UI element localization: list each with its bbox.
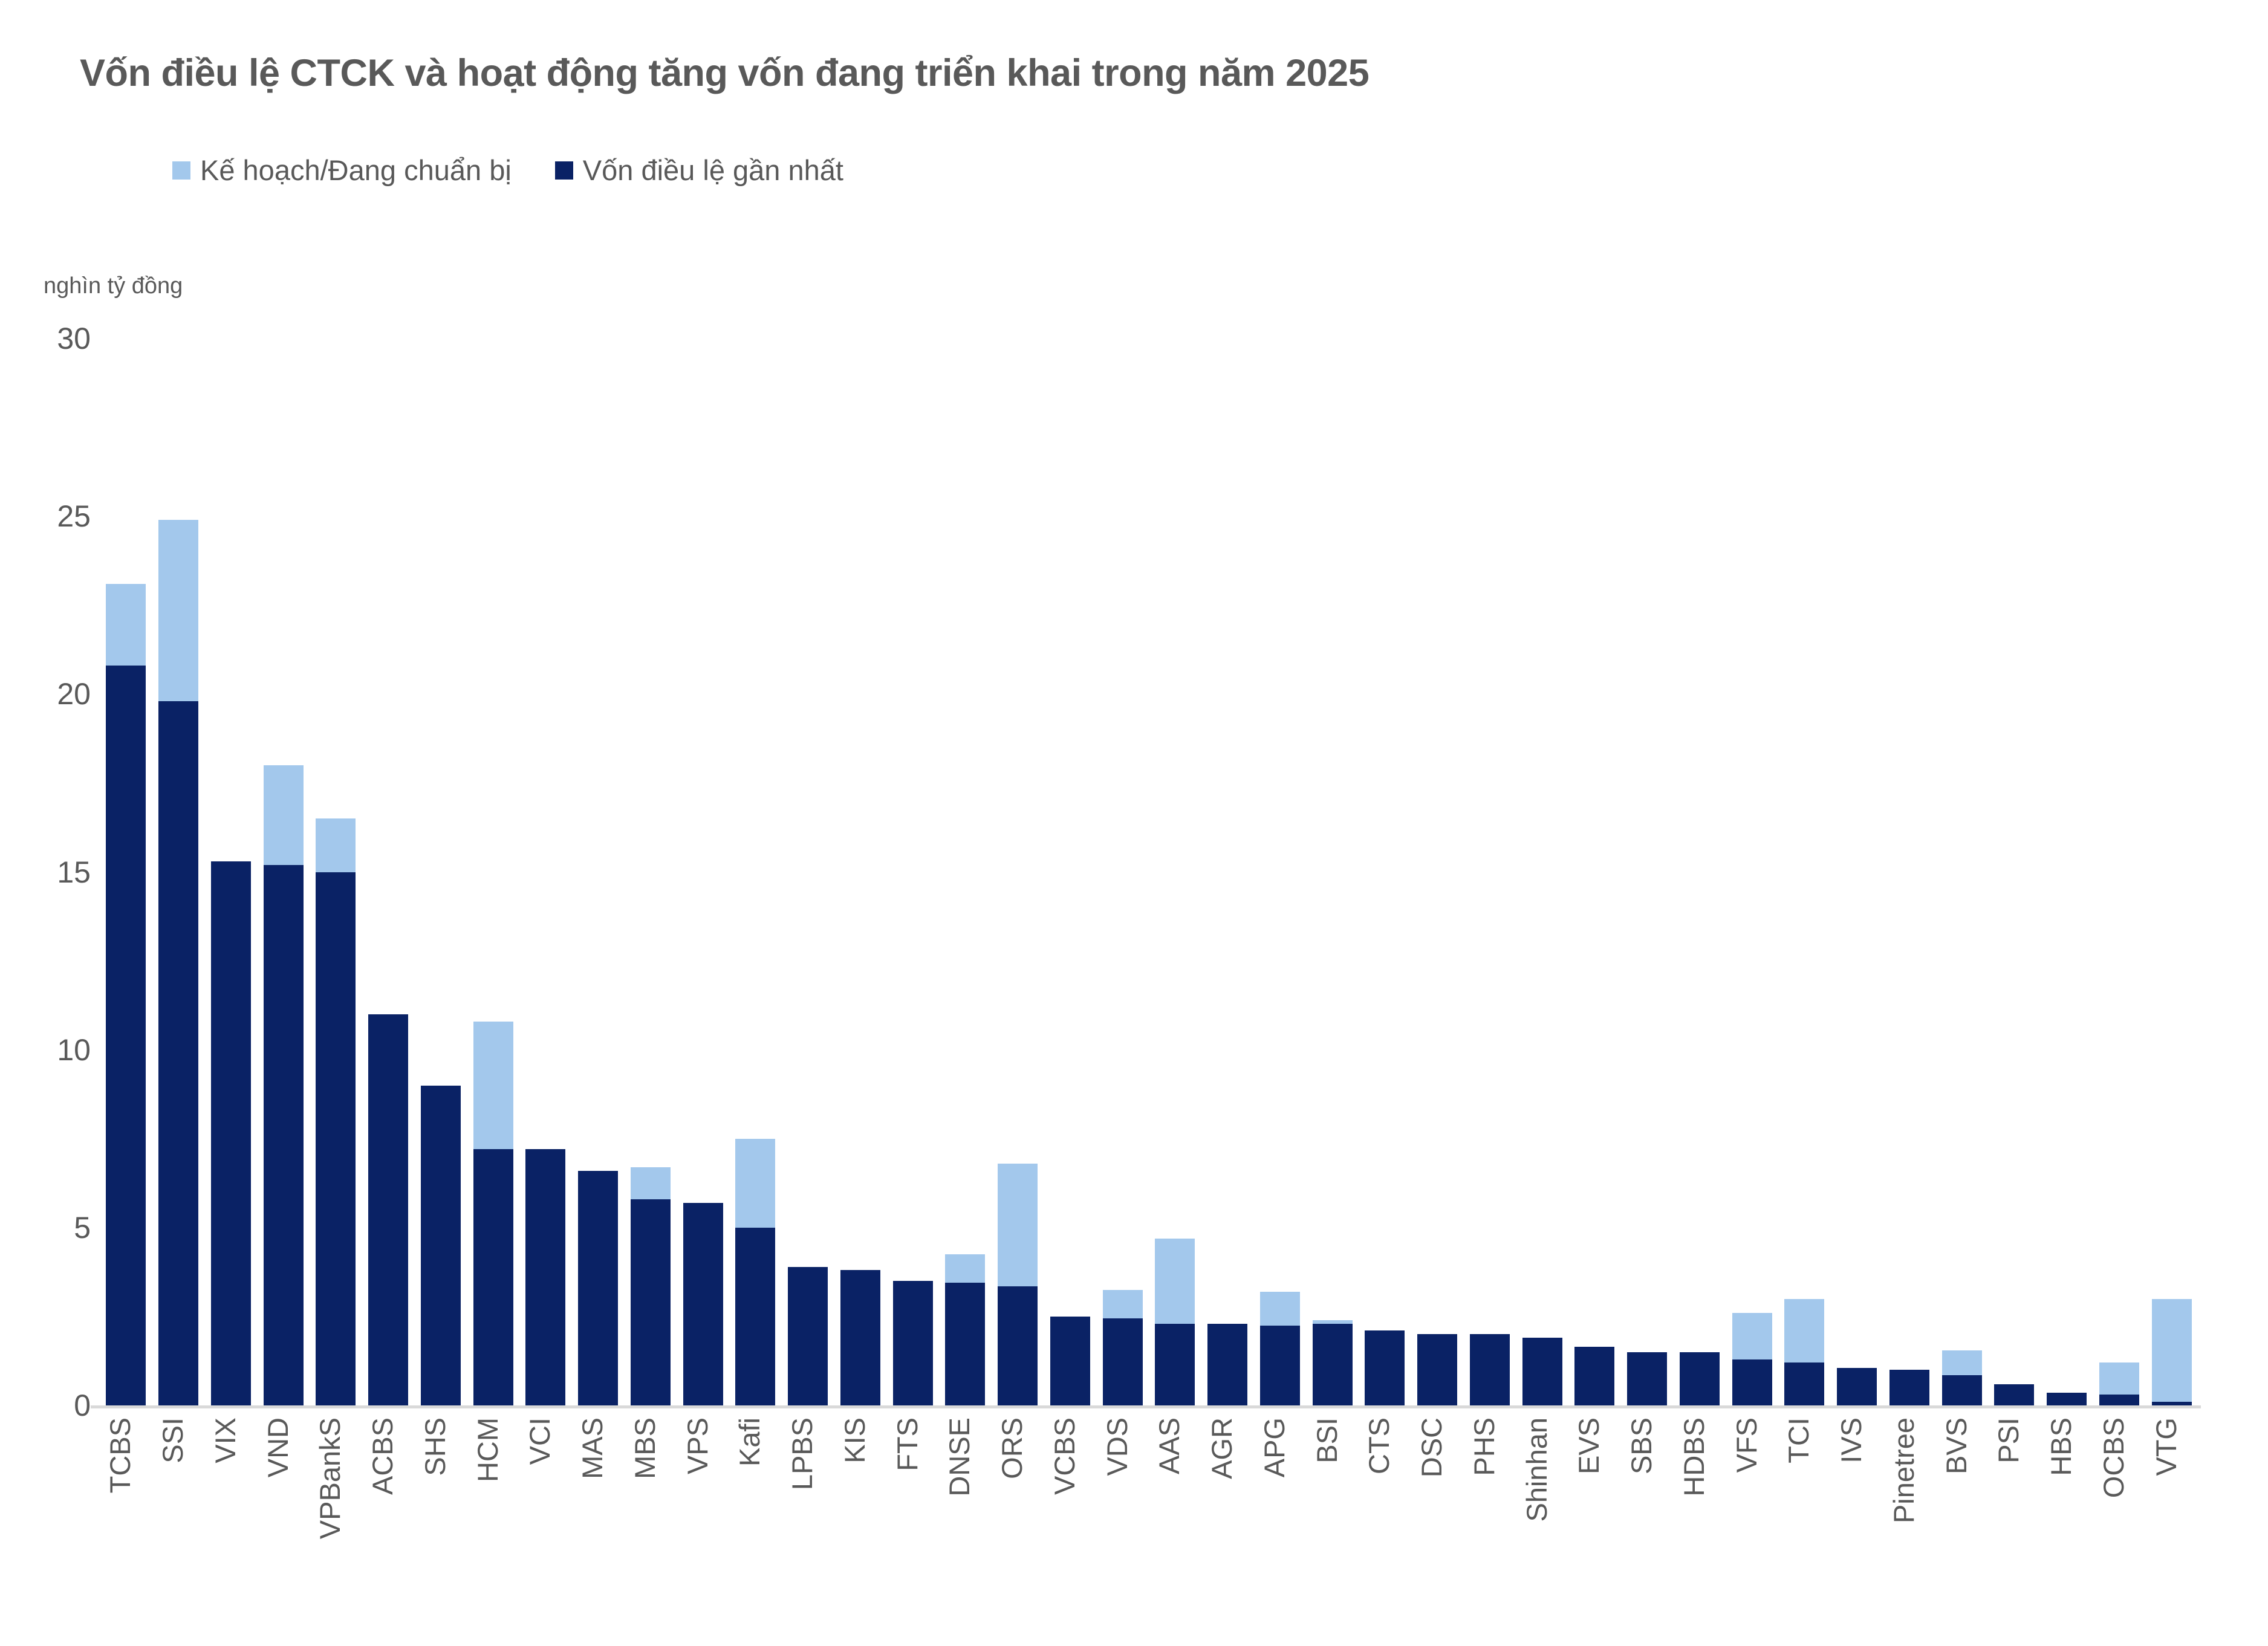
bar-column[interactable] [1837,1368,1877,1405]
bar-column[interactable] [1207,1324,1247,1405]
bar-segment-capital [893,1281,933,1405]
bar-segment-capital [1050,1317,1090,1405]
bar-column[interactable] [1627,1352,1667,1405]
x-axis-tick-label: AAS [1155,1418,1195,1474]
bar-column[interactable] [1313,1320,1353,1405]
bar-column[interactable] [788,1267,828,1405]
bar-segment-capital [1470,1334,1510,1405]
bar-segment-plan [735,1139,775,1228]
x-axis-tick-label: DNSE [945,1418,985,1497]
y-axis-tick: 25 [57,501,91,531]
x-axis-tick-label: EVS [1574,1418,1614,1474]
x-axis-tick-label: OCBS [2099,1418,2139,1498]
bar-column[interactable] [840,1270,880,1405]
bar-segment-plan [1103,1290,1143,1318]
bar-column[interactable] [1889,1370,1929,1405]
bar-column[interactable] [1942,1350,1982,1405]
bar-segment-capital [1103,1318,1143,1405]
bar-segment-capital [998,1286,1038,1405]
x-axis-tick-label: ORS [998,1418,1038,1479]
bar-column[interactable] [1680,1352,1720,1405]
bar-segment-plan [1155,1239,1195,1324]
bar-segment-capital [1732,1359,1772,1405]
bar-segment-capital [2152,1402,2192,1405]
x-axis-baseline [91,1405,2201,1408]
bar-column[interactable] [316,818,356,1405]
bar-segment-plan [1784,1299,1824,1363]
x-axis-tick-label: MAS [578,1418,618,1479]
x-axis-tick-label: APG [1260,1418,1300,1477]
chart-page: Vốn điều lệ CTCK và hoạt động tăng vốn đ… [0,0,2268,1646]
bar-column[interactable] [683,1203,723,1405]
x-axis-tick-label: SSI [158,1418,198,1463]
bar-segment-capital [1313,1324,1353,1405]
bar-segment-capital [421,1086,461,1406]
bar-segment-plan [2099,1362,2139,1395]
bar-segment-capital [158,701,198,1405]
bar-segment-capital [1889,1370,1929,1405]
bar-column[interactable] [211,861,251,1405]
bar-column[interactable] [2099,1362,2139,1405]
x-axis-tick-label: VPBankS [316,1418,356,1539]
y-axis-tick: 0 [74,1390,91,1421]
bar-segment-capital [1522,1338,1562,1405]
x-axis-tick-label: AGR [1207,1418,1247,1479]
x-axis-tick-label: SHS [421,1418,461,1476]
bar-segment-plan [1260,1292,1300,1326]
bar-segment-capital [1207,1324,1247,1405]
bar-column[interactable] [368,1014,408,1405]
y-axis-tick: 20 [57,679,91,709]
y-axis-tick: 15 [57,857,91,887]
bar-column[interactable] [1784,1299,1824,1405]
x-axis-tick-label: LPBS [788,1418,828,1490]
x-axis-tick-label: HDBS [1680,1418,1720,1497]
bar-segment-capital [840,1270,880,1405]
x-axis-tick-label: Pinetree [1889,1418,1929,1523]
x-axis-tick-label: VFS [1732,1418,1772,1473]
x-axis-tick-label: VPS [683,1418,723,1474]
bar-segment-capital [1417,1334,1457,1405]
x-axis-tick-label: VCBS [1050,1418,1090,1495]
y-axis-tick: 30 [57,323,91,354]
bar-segment-capital [1574,1347,1614,1405]
bar-column[interactable] [1260,1292,1300,1405]
x-axis-tick-label: VIX [211,1418,251,1463]
bar-column[interactable] [1732,1313,1772,1405]
bar-column[interactable] [525,1149,565,1405]
bar-segment-capital [631,1199,671,1405]
bar-column[interactable] [1470,1334,1510,1405]
x-axis-tick-label: SBS [1627,1418,1667,1474]
x-axis-tick-label: FTS [893,1418,933,1471]
x-axis-tick-label: PHS [1470,1418,1510,1476]
bar-column[interactable] [631,1167,671,1405]
y-axis: 051015202530 [0,0,91,1646]
bar-segment-plan [631,1167,671,1199]
x-axis-tick-label: TCBS [106,1418,146,1493]
x-axis-tick-label: KIS [840,1418,880,1463]
x-axis-tick-label: ACBS [368,1418,408,1495]
bar-column[interactable] [1994,1384,2034,1405]
bar-segment-capital [945,1283,985,1405]
bar-segment-plan [106,584,146,666]
bar-segment-plan [473,1022,513,1150]
y-axis-tick: 5 [74,1213,91,1243]
x-axis-tick-label: HCM [473,1418,513,1482]
bar-segment-capital [264,865,304,1405]
bar-segment-capital [1155,1324,1195,1405]
bar-segment-capital [316,872,356,1406]
x-axis-tick-label: Kafi [735,1418,775,1466]
bar-segment-capital [683,1203,723,1405]
bar-column[interactable] [473,1022,513,1405]
bar-column[interactable] [1574,1347,1614,1405]
x-axis-tick-label: IVS [1837,1418,1877,1463]
bar-series-container [100,339,2198,1405]
bar-segment-plan [158,520,198,701]
x-axis-tick-label: HBS [2047,1418,2087,1476]
x-axis-tick-label: BVS [1942,1418,1982,1474]
bar-segment-capital [1680,1352,1720,1405]
x-axis-tick-label: Shinhan [1522,1418,1562,1522]
bar-column[interactable] [2152,1299,2192,1405]
x-axis-tick-label: VCI [525,1418,565,1465]
bar-column[interactable] [998,1164,1038,1405]
bar-segment-capital [525,1149,565,1405]
bar-segment-plan [2152,1299,2192,1402]
x-axis-tick-label: VTG [2152,1418,2192,1476]
bar-segment-plan [945,1254,985,1283]
bar-column[interactable] [264,765,304,1405]
bar-segment-plan [1942,1350,1982,1375]
bar-column[interactable] [2047,1393,2087,1405]
x-axis-tick-label: DSC [1417,1418,1457,1477]
bar-column[interactable] [421,1086,461,1406]
bar-segment-capital [1365,1330,1405,1405]
bar-column[interactable] [158,520,198,1405]
bar-column[interactable] [735,1139,775,1405]
y-axis-tick: 10 [57,1035,91,1065]
x-axis-tick-label: BSI [1313,1418,1353,1463]
bar-segment-capital [1784,1362,1824,1405]
bar-column[interactable] [1103,1290,1143,1405]
bar-segment-capital [106,666,146,1405]
bar-segment-plan [1732,1313,1772,1359]
bar-segment-capital [1942,1375,1982,1405]
plot-area: 051015202530 TCBSSSIVIXVNDVPBankSACBSSHS… [0,0,2268,1646]
bar-segment-capital [735,1228,775,1405]
bar-segment-capital [1837,1368,1877,1405]
bar-segment-capital [1260,1326,1300,1405]
bar-segment-capital [578,1171,618,1405]
bar-column[interactable] [1155,1239,1195,1406]
bar-segment-plan [316,818,356,872]
bar-segment-capital [368,1014,408,1405]
bar-segment-plan [998,1164,1038,1286]
x-axis-tick-label: TCI [1784,1418,1824,1463]
bar-segment-plan [264,765,304,865]
bar-column[interactable] [578,1171,618,1405]
bar-column[interactable] [893,1281,933,1405]
bar-segment-capital [473,1149,513,1405]
bar-column[interactable] [1522,1338,1562,1405]
bar-column[interactable] [1365,1330,1405,1405]
bar-column[interactable] [1050,1317,1090,1405]
bar-segment-capital [211,861,251,1405]
x-axis-tick-label: VDS [1103,1418,1143,1476]
bar-column[interactable] [945,1254,985,1405]
bar-segment-capital [1627,1352,1667,1405]
bar-column[interactable] [1417,1334,1457,1405]
x-axis-tick-label: CTS [1365,1418,1405,1474]
bar-segment-capital [1994,1384,2034,1405]
x-axis-labels: TCBSSSIVIXVNDVPBankSACBSSHSHCMVCIMASMBSV… [100,1418,2198,1641]
x-axis-tick-label: PSI [1994,1418,2034,1463]
x-axis-tick-label: VND [264,1418,304,1477]
bar-column[interactable] [106,584,146,1405]
bar-segment-capital [788,1267,828,1405]
x-axis-tick-label: MBS [631,1418,671,1479]
bar-segment-capital [2047,1393,2087,1405]
bar-segment-capital [2099,1395,2139,1405]
